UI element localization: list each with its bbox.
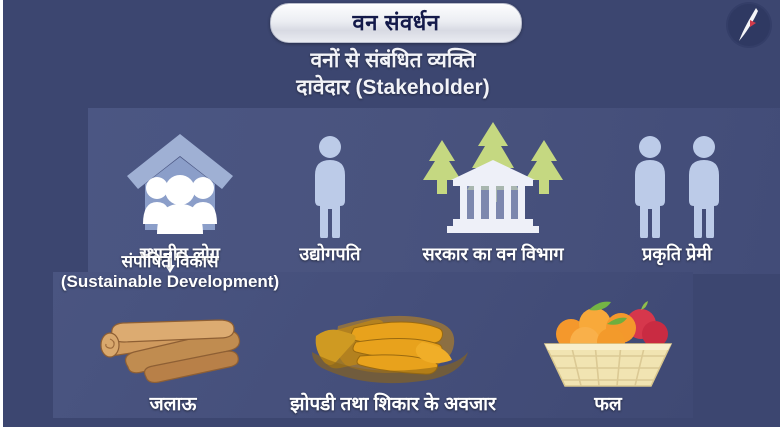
stakeholder-item-forest-department: सरकार का वन विभाग [395,108,591,274]
resource-item-hut-and-hunting-tools: झोपडी तथा शिकार के अवजार [263,300,523,418]
stakeholder-label: सरकार का वन विभाग [423,242,564,274]
single-person-icon [306,108,354,242]
subtitle-line-2: दावेदार (Stakeholder) [3,75,780,102]
sustainable-development-note: संपोषित विकास (Sustainable Development) [25,252,315,293]
fruit-basket-icon [533,294,683,390]
wooden-tools-bundle-icon [298,300,488,390]
resource-label: जलाऊ [150,390,197,418]
slide-title-pill: वन संवर्धन [270,3,522,43]
slide-canvas: वन संवर्धन वनों से संबंधित व्यक्ति दावेद… [0,0,780,430]
firewood-logs-icon [88,300,258,390]
government-building-with-trees-icon [404,108,582,242]
resource-label: झोपडी तथा शिकार के अवजार [290,390,496,418]
page-title: वन संवर्धन [353,12,440,34]
house-with-family-icon [121,108,239,242]
slide-subtitle: वनों से संबंधित व्यक्ति दावेदार (Stakeho… [3,48,780,102]
sustainable-line-2: (Sustainable Development) [25,272,315,292]
channel-logo-watermark [726,2,772,48]
sustainable-line-1: संपोषित विकास [25,252,315,272]
stakeholder-item-industrialist: उद्योगपति [265,108,395,274]
two-people-icon [624,108,730,242]
stakeholder-item-local-people: स्थानीय लोग [95,108,265,274]
logo-glyph-icon [726,2,772,48]
resource-item-firewood: जलाऊ [83,300,263,418]
resource-label: फल [594,390,622,418]
subtitle-line-1: वनों से संबंधित व्यक्ति [3,48,780,75]
stakeholder-item-nature-lover: प्रकृति प्रेमी [591,108,763,274]
stakeholder-label: प्रकृति प्रेमी [642,242,712,274]
resource-item-fruits: फल [523,300,693,418]
